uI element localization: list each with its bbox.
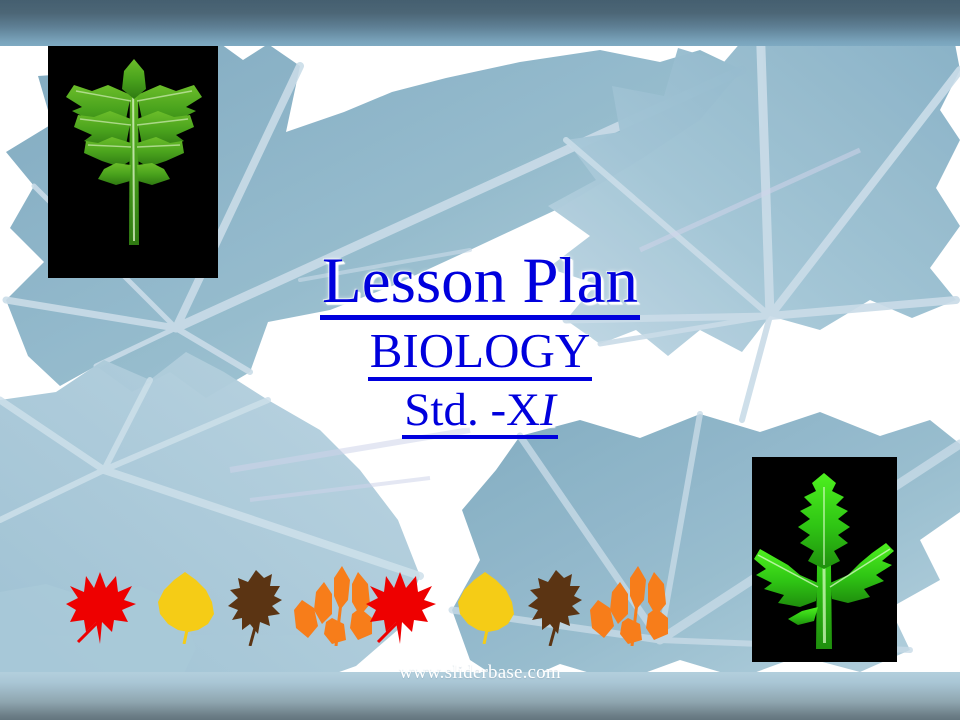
title-line-lesson-plan: Lesson Plan bbox=[0, 248, 960, 320]
title-biology-text: BIOLOGY bbox=[368, 326, 592, 381]
decorative-autumn-leaf-row bbox=[66, 566, 652, 646]
deco-leaf-maple-red-1 bbox=[66, 570, 136, 644]
deco-leaf-poplar-yellow-1 bbox=[154, 570, 216, 644]
title-standard-italic: I bbox=[540, 384, 556, 436]
bright-green-pinnate-leaf-illustration bbox=[752, 457, 897, 662]
title-line-biology: BIOLOGY bbox=[0, 326, 960, 381]
green-compound-leaf-photo bbox=[48, 45, 218, 278]
title-standard-plain: Std. -X bbox=[404, 384, 540, 436]
deco-leaf-oak-brown-2 bbox=[526, 568, 584, 646]
deco-leaf-ash-orange-2 bbox=[584, 566, 670, 646]
footer-watermark: www.sliderbase.com bbox=[0, 662, 960, 684]
presentation-slide: Lesson Plan BIOLOGY Std. -XI www.sliderb… bbox=[0, 0, 960, 720]
title-standard-text: Std. -XI bbox=[402, 387, 557, 439]
deco-leaf-maple-red-2 bbox=[366, 570, 436, 644]
slide-title-block: Lesson Plan BIOLOGY Std. -XI bbox=[0, 248, 960, 439]
title-lesson-plan-text: Lesson Plan bbox=[320, 248, 640, 320]
top-gradient-band bbox=[0, 0, 960, 46]
deco-leaf-poplar-yellow-2 bbox=[454, 570, 516, 644]
bright-green-pinnate-leaf-photo bbox=[752, 457, 897, 662]
title-line-standard: Std. -XI bbox=[0, 387, 960, 439]
green-compound-leaf-illustration bbox=[48, 45, 218, 278]
deco-leaf-ash-orange-1 bbox=[288, 566, 374, 646]
deco-leaf-oak-brown-1 bbox=[226, 568, 284, 646]
